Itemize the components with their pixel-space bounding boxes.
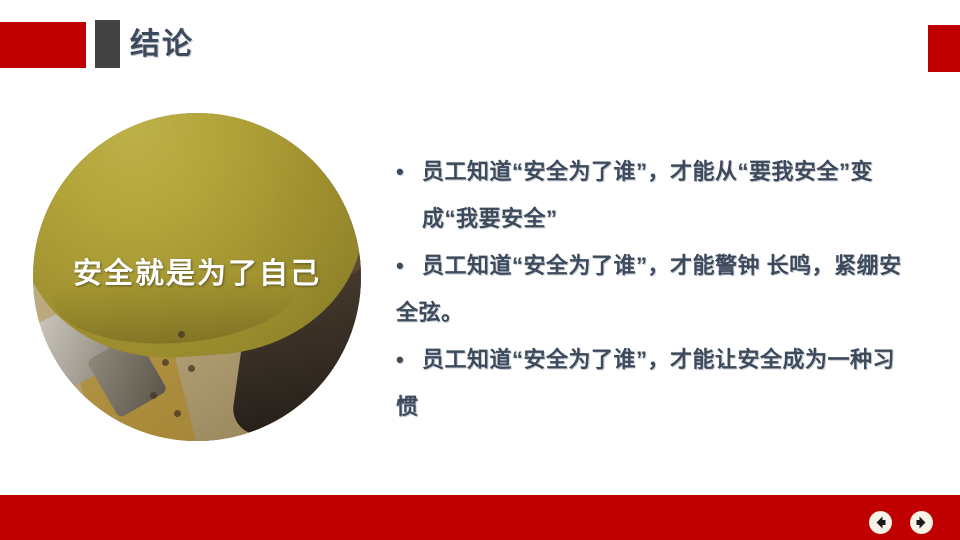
bullet-marker-icon: • bbox=[396, 148, 422, 195]
hard-hat-tool-belt-photo: 安全就是为了自己 bbox=[33, 113, 361, 441]
bullet-marker-icon: • bbox=[396, 336, 422, 383]
list-item-text: 员工知道“安全为了谁”，才能让安全成为一种习惯 bbox=[396, 347, 895, 419]
next-slide-button[interactable] bbox=[910, 511, 933, 534]
previous-slide-button[interactable] bbox=[869, 511, 892, 534]
list-item-text: 员工知道“安全为了谁”，才能从“要我安全”变成“我要安全” bbox=[422, 148, 916, 242]
arrow-right-icon bbox=[910, 511, 933, 534]
slide-canvas: 结论 安全就是为了自己 •员工知道“安全为了谁”，才能从“要我安全”变成“我要安… bbox=[0, 0, 960, 540]
bullet-list: •员工知道“安全为了谁”，才能从“要我安全”变成“我要安全” •员工知道“安全为… bbox=[396, 148, 916, 430]
list-item-text: 员工知道“安全为了谁”，才能警钟 长鸣，紧绷安全弦。 bbox=[396, 253, 902, 325]
footer-bar bbox=[0, 495, 960, 540]
list-item: •员工知道“安全为了谁”，才能警钟 长鸣，紧绷安全弦。 bbox=[396, 242, 916, 336]
header-red-accent-block bbox=[0, 22, 86, 68]
page-title: 结论 bbox=[130, 26, 194, 64]
list-item: •员工知道“安全为了谁”，才能让安全成为一种习惯 bbox=[396, 336, 916, 430]
photo-caption: 安全就是为了自己 bbox=[33, 256, 361, 292]
list-item: •员工知道“安全为了谁”，才能从“要我安全”变成“我要安全” bbox=[396, 148, 916, 242]
arrow-left-icon bbox=[869, 511, 892, 534]
header-right-red-accent-block bbox=[928, 25, 960, 72]
bullet-marker-icon: • bbox=[396, 242, 422, 289]
header-gray-accent-block bbox=[95, 20, 120, 68]
